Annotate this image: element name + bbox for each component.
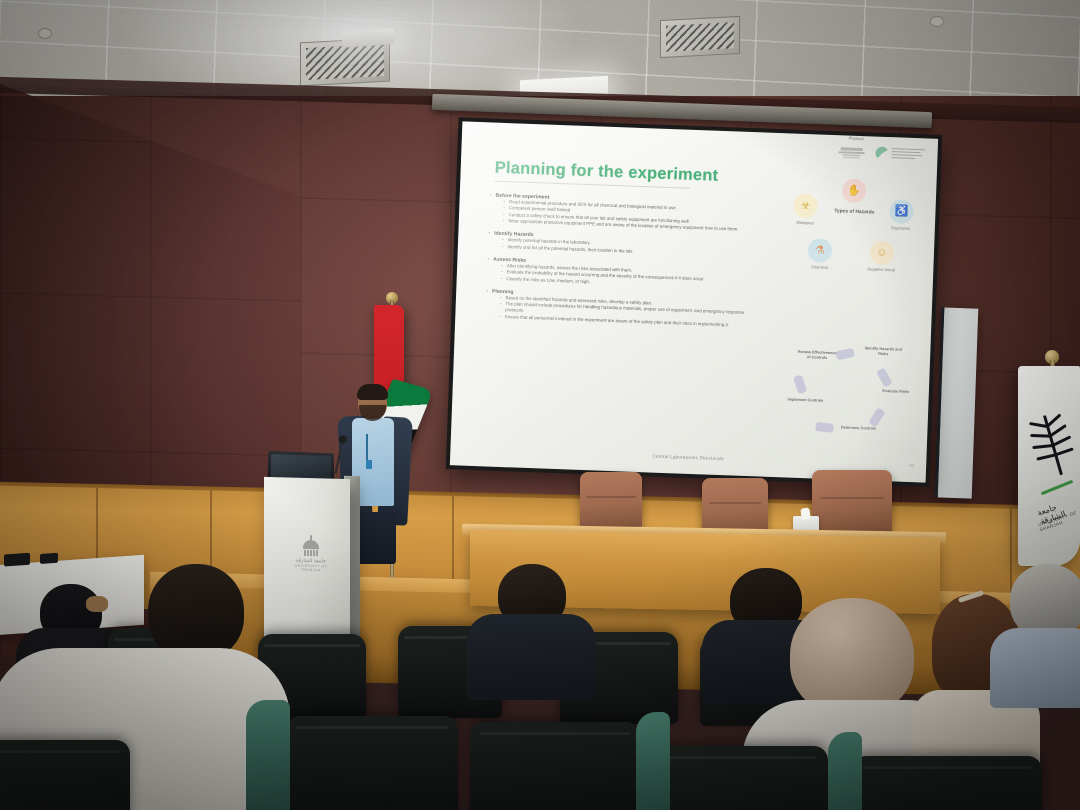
audience-head-bald (790, 598, 914, 716)
auditorium-seat (648, 746, 828, 810)
seat-side-panel (246, 700, 290, 810)
smoke-detector-icon (38, 28, 52, 39)
panel-chair (812, 470, 892, 534)
audience-torso (990, 628, 1080, 708)
cycle-node: Determine Controls (837, 425, 879, 431)
cycle-arrow-icon (793, 374, 807, 394)
types-of-hazards-graphic: Types of Hazards Physical ✋ ☣ Biological… (777, 157, 931, 280)
hazard-item-ergonomic: ♿ Ergonomic (881, 199, 922, 231)
slide-logo-green-crescent-icon (875, 147, 925, 162)
cycle-node: Implement Controls (784, 397, 826, 403)
hazard-center-label: Types of Hazards (831, 209, 877, 217)
presentation-slide: Planning for the experiment • Before the… (450, 121, 938, 482)
chemical-hazard-icon: ⚗ (808, 238, 833, 263)
slide-page-number: 40 (909, 463, 914, 468)
hvac-vent-icon (660, 16, 740, 58)
biological-hazard-icon: ☣ (793, 194, 818, 219)
bullet-marker: • (490, 192, 492, 198)
slide-section: • Identify Hazards •Identify potential h… (488, 231, 766, 260)
risk-management-cycle-graphic: Identify Hazards and Risks Evaluate Risk… (781, 339, 917, 456)
audience-head-grey (1010, 564, 1080, 638)
hazard-item-chemical: ⚗ Chemical (799, 238, 840, 270)
cycle-node: Identify Hazards and Risks (862, 346, 904, 357)
negative-social-hazard-icon: ☺ (869, 240, 894, 265)
auditorium-seat (852, 756, 1042, 810)
audience-area (0, 550, 1080, 810)
presenter-hair (357, 384, 388, 400)
projection-screen: Planning for the experiment • Before the… (446, 117, 943, 486)
eyeglasses-icon (86, 596, 108, 612)
bullet-marker: • (488, 231, 490, 237)
presenter-badge (366, 460, 372, 469)
lecture-hall-photo: Planning for the experiment • Before the… (0, 0, 1080, 810)
cycle-arrow-icon (835, 348, 854, 361)
bullet-marker: • (487, 256, 489, 262)
palm-tree-logo-icon (1024, 409, 1080, 485)
hazard-item-biological: ☣ Biological (785, 193, 826, 225)
presenter-lanyard (366, 434, 368, 460)
cycle-node: Evaluate Risks (875, 389, 917, 395)
smoke-detector-icon (930, 16, 944, 27)
university-banner: جامعة الشارقة UNIVERSITY OF SHARJAH (1018, 366, 1080, 566)
dome-icon (303, 540, 319, 549)
slide-section: • Planning •Based on the identified haza… (485, 288, 764, 329)
ergonomic-hazard-icon: ♿ (889, 199, 914, 224)
hazard-item-negative-social: ☺ Negative Social (861, 240, 902, 272)
cycle-node: Review Effectiveness of Controls (796, 350, 838, 361)
bullet-marker: • (486, 288, 488, 294)
slide-section: • Before the experiment •Read experiment… (489, 192, 768, 233)
slide-section: • Assess Risks •After identifying hazard… (487, 256, 766, 291)
whiteboard (935, 307, 979, 498)
slide-body: • Before the experiment •Read experiment… (485, 192, 768, 336)
panel-chair (580, 472, 642, 530)
auditorium-seat (0, 740, 130, 810)
hazard-item-physical: Physical ✋ (834, 165, 875, 205)
auditorium-seat (470, 722, 640, 810)
auditorium-seat (286, 716, 458, 810)
seat-side-panel (828, 732, 862, 810)
cycle-arrow-icon (868, 407, 885, 427)
cycle-arrow-icon (815, 422, 834, 433)
seat-side-panel (636, 712, 670, 810)
audience-head (148, 564, 244, 660)
physical-hazard-icon: ✋ (842, 178, 867, 203)
audience-torso (466, 614, 596, 700)
cycle-arrow-icon (876, 367, 893, 387)
